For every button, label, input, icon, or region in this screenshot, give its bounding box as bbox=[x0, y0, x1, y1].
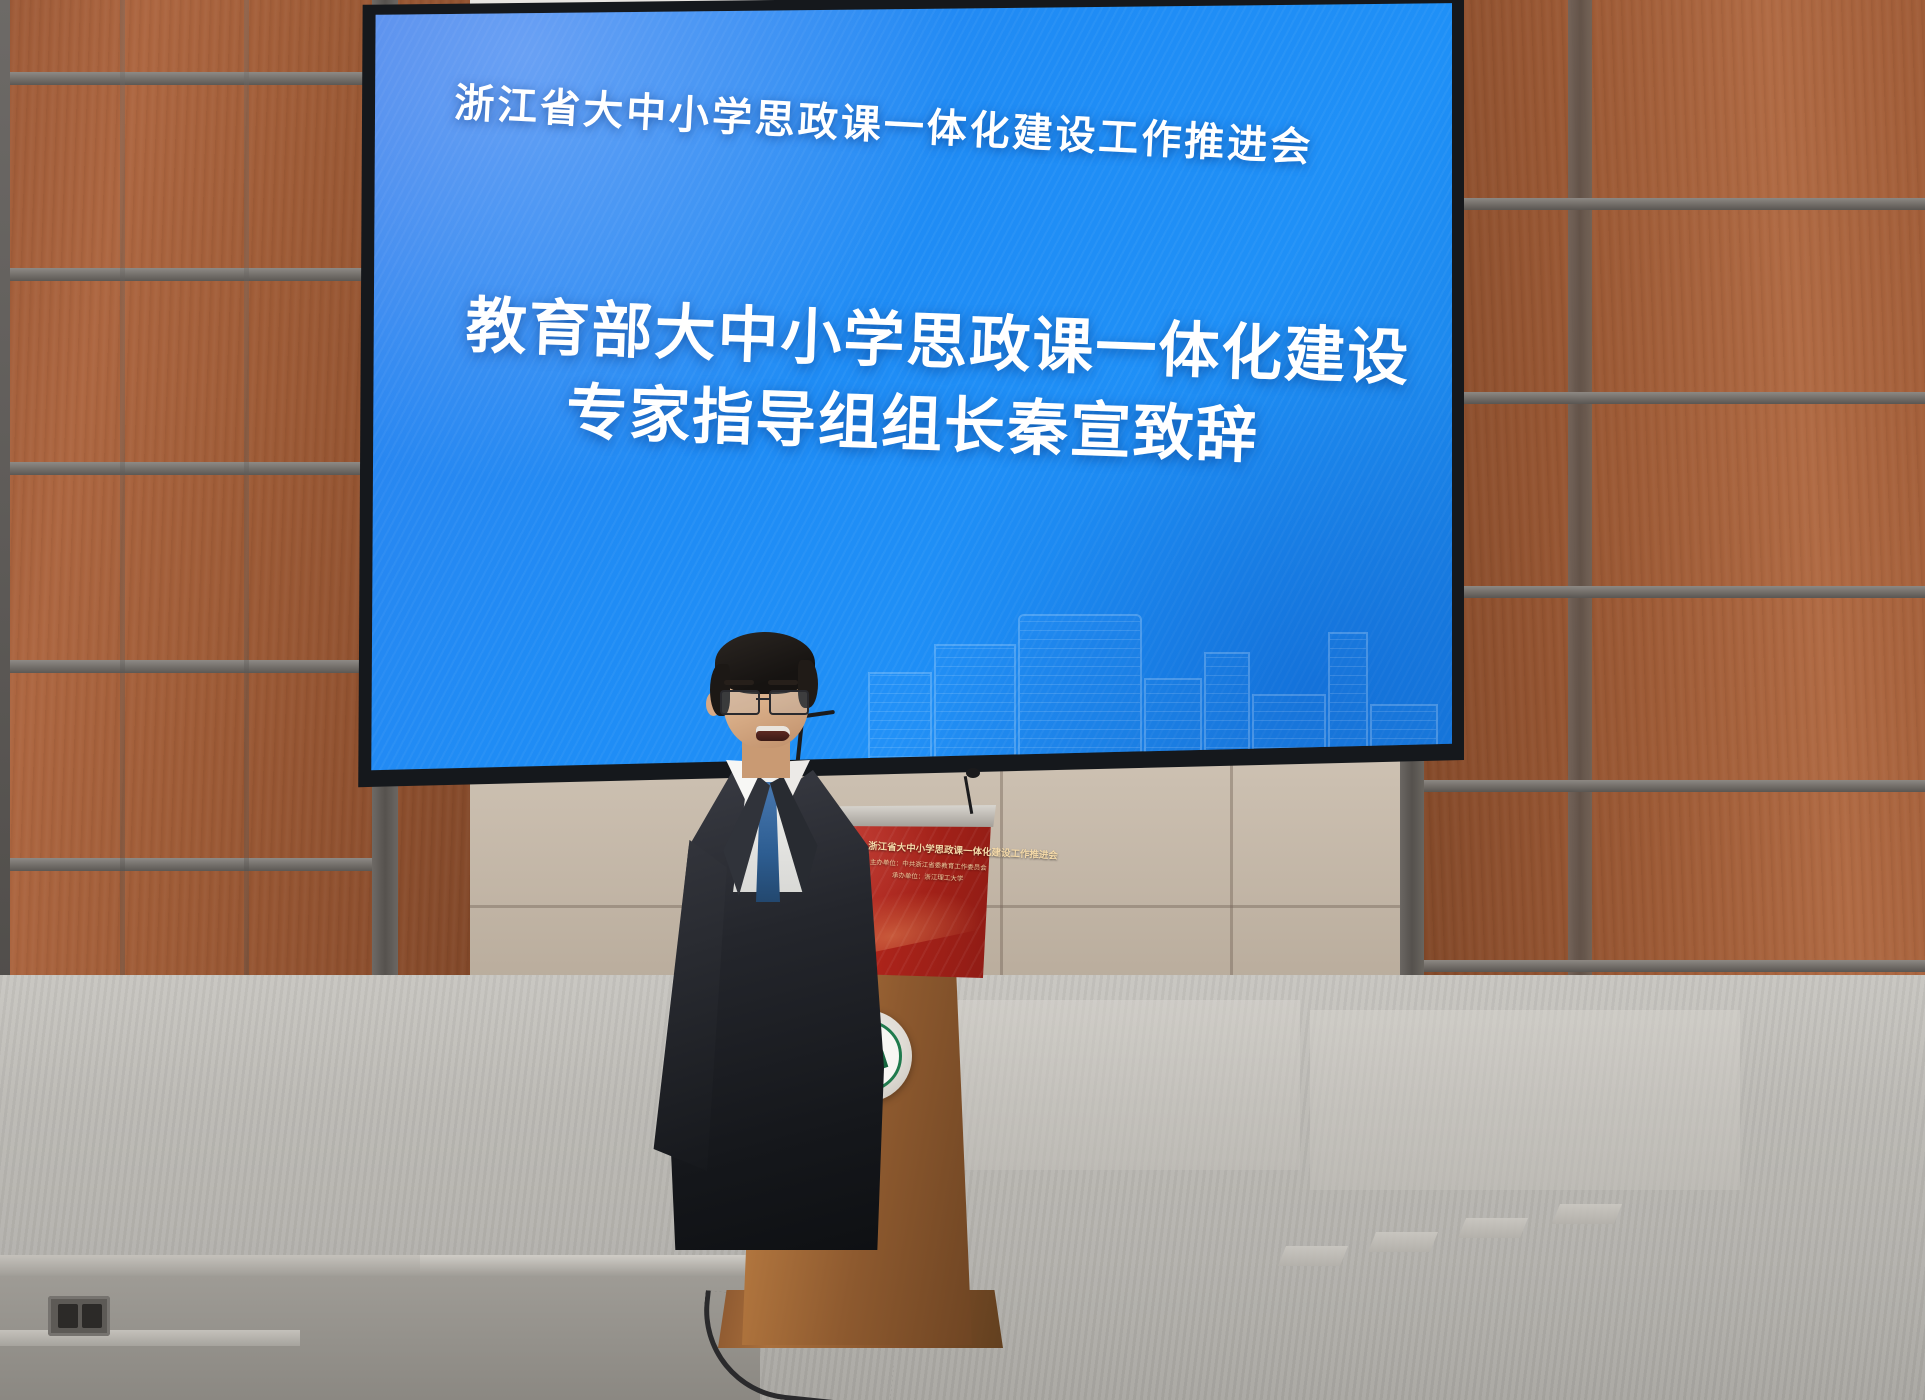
led-screen: 浙江省大中小学思政课一体化建设工作推进会 教育部大中小学思政课一体化建设 专家指… bbox=[368, 0, 1452, 778]
floor-marker bbox=[1368, 1232, 1438, 1252]
eyeglasses-icon bbox=[720, 690, 812, 712]
wall-horizontal-strip bbox=[1424, 392, 1925, 404]
panel-seam bbox=[1230, 760, 1233, 990]
wall-horizontal-strip bbox=[1424, 780, 1925, 792]
power-outlet-icon bbox=[48, 1296, 110, 1336]
wall-horizontal-strip bbox=[1424, 586, 1925, 598]
wall-horizontal-strip bbox=[1424, 960, 1925, 972]
stage-step bbox=[0, 1255, 420, 1273]
wall-horizontal-strip bbox=[0, 72, 372, 85]
wall-horizontal-strip bbox=[0, 268, 372, 281]
lens-right bbox=[769, 690, 809, 715]
floor-marker bbox=[1458, 1218, 1528, 1238]
microphone-head-icon bbox=[966, 768, 980, 778]
wall-horizontal-strip bbox=[1424, 198, 1925, 210]
skyline-graphic bbox=[868, 588, 1448, 768]
mouth bbox=[756, 726, 790, 741]
wall-horizontal-strip bbox=[0, 858, 372, 871]
floor-marker bbox=[1552, 1204, 1622, 1224]
right-wood-wall bbox=[1400, 0, 1925, 1130]
conference-hall-photo: 浙江省大中小学思政课一体化建设工作推进会 教育部大中小学思政课一体化建设 专家指… bbox=[0, 0, 1925, 1400]
wall-horizontal-strip bbox=[0, 660, 372, 673]
floor-marker bbox=[1278, 1246, 1348, 1266]
wall-horizontal-strip bbox=[0, 462, 372, 475]
glasses-bridge bbox=[756, 698, 769, 700]
eyebrow bbox=[768, 680, 798, 685]
floor-tile bbox=[1310, 1010, 1740, 1190]
eyebrow bbox=[724, 680, 754, 685]
panel-seam bbox=[1000, 760, 1003, 990]
lens-left bbox=[720, 690, 760, 715]
stage-step bbox=[0, 1330, 300, 1346]
speaker-person bbox=[660, 630, 890, 1320]
screen-title-block: 教育部大中小学思政课一体化建设 专家指导组组长秦宣致辞 bbox=[461, 284, 1366, 481]
